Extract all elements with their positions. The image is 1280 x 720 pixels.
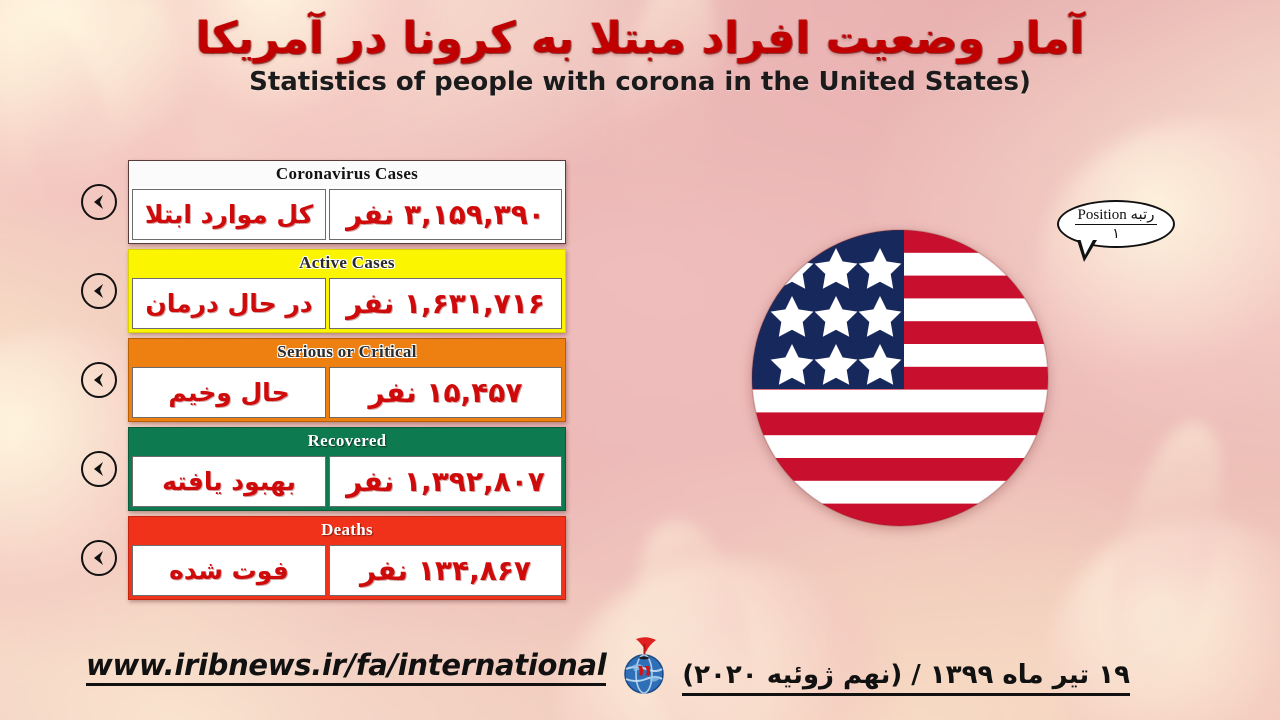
stat-row: ۱۵,۴۵۷ نفر حال وخیم: [129, 365, 565, 421]
stat-row: ۱۳۴,۸۶۷ نفر فوت شده: [129, 543, 565, 599]
stat-card-deaths: Deaths ۱۳۴,۸۶۷ نفر فوت شده: [128, 516, 566, 600]
chevron-left-icon[interactable]: [81, 273, 117, 309]
stat-label: در حال درمان: [132, 278, 326, 329]
page-title-en: Statistics of people with corona in the …: [0, 67, 1280, 97]
stat-value: ۱۵,۴۵۷ نفر: [329, 367, 562, 418]
bubble-tail-inner: [1080, 238, 1094, 255]
stat-value: ۱,۳۹۲,۸۰۷ نفر: [329, 456, 562, 507]
stat-card-recovered: Recovered ۱,۳۹۲,۸۰۷ نفر بهبود یافته: [128, 427, 566, 511]
chevron-left-icon[interactable]: [81, 451, 117, 487]
bubble-rank-value: ۱: [1112, 225, 1120, 241]
stat-card-total: Coronavirus Cases ۳,۱۵۹,۳۹۰ نفر کل موارد…: [128, 160, 566, 244]
stat-label: حال وخیم: [132, 367, 326, 418]
page-header: آمار وضعیت افراد مبتلا به کرونا در آمریک…: [0, 14, 1280, 97]
stat-caption: Serious or Critical: [129, 339, 565, 365]
chevron-left-icon[interactable]: [81, 184, 117, 220]
statistics-list: Coronavirus Cases ۳,۱۵۹,۳۹۰ نفر کل موارد…: [128, 160, 566, 605]
stat-row: ۳,۱۵۹,۳۹۰ نفر کل موارد ابتلا: [129, 187, 565, 243]
bubble-position-label: رتبه Position: [1075, 208, 1158, 225]
stat-value: ۱۳۴,۸۶۷ نفر: [329, 545, 562, 596]
chevron-left-icon[interactable]: [81, 540, 117, 576]
irib-news-globe-logo-icon: [616, 636, 672, 698]
stat-label: بهبود یافته: [132, 456, 326, 507]
stat-label: کل موارد ابتلا: [132, 189, 326, 240]
stat-value: ۱,۶۳۱,۷۱۶ نفر: [329, 278, 562, 329]
page-title-fa: آمار وضعیت افراد مبتلا به کرونا در آمریک…: [0, 14, 1280, 65]
stat-label: فوت شده: [132, 545, 326, 596]
stat-caption: Recovered: [129, 428, 565, 454]
stat-caption: Active Cases: [129, 250, 565, 276]
us-flag-circle: [752, 230, 1048, 526]
stat-caption: Deaths: [129, 517, 565, 543]
stat-row: ۱,۳۹۲,۸۰۷ نفر بهبود یافته: [129, 454, 565, 510]
stat-caption: Coronavirus Cases: [129, 161, 565, 187]
bubble-body: رتبه Position ۱: [1057, 200, 1175, 248]
website-url[interactable]: www.iribnews.ir/fa/international: [86, 648, 606, 686]
stat-card-serious: Serious or Critical ۱۵,۴۵۷ نفر حال وخیم: [128, 338, 566, 422]
coronavirus-us-flag-graphic: [700, 178, 1100, 578]
stat-value: ۳,۱۵۹,۳۹۰ نفر: [329, 189, 562, 240]
position-callout: رتبه Position ۱: [1055, 200, 1175, 262]
chevron-left-icon[interactable]: [81, 362, 117, 398]
footer-branding: www.iribnews.ir/fa/international: [86, 636, 672, 698]
publication-date: ۱۹ تیر ماه ۱۳۹۹ / (نهم ژوئیه ۲۰۲۰): [682, 660, 1130, 696]
stat-card-active: Active Cases ۱,۶۳۱,۷۱۶ نفر در حال درمان: [128, 249, 566, 333]
stat-row: ۱,۶۳۱,۷۱۶ نفر در حال درمان: [129, 276, 565, 332]
